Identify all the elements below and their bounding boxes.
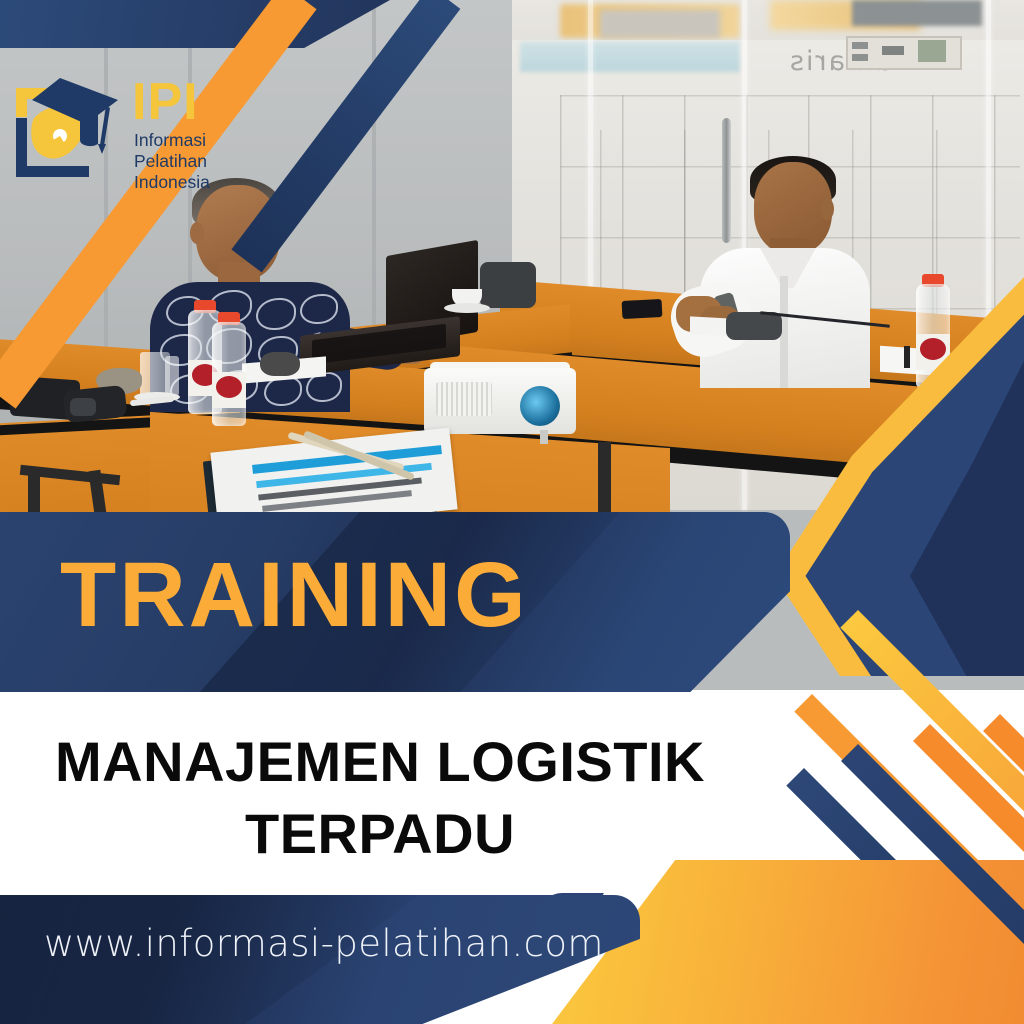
logo-wordmark: IPI xyxy=(132,76,199,128)
panel-switch xyxy=(852,54,868,61)
door-handle xyxy=(722,118,731,243)
bottle-logo xyxy=(216,376,242,398)
projector-foot xyxy=(540,430,548,444)
logo-tagline-line2: Pelatihan xyxy=(134,151,210,172)
website-url[interactable]: www.informasi-pelatihan.com xyxy=(44,922,604,965)
glass-reflection xyxy=(520,42,740,72)
panel-switch xyxy=(852,42,868,49)
drinking-glass xyxy=(165,356,179,396)
poster-canvas: amaris xyxy=(0,0,1024,1024)
projector-vent xyxy=(436,382,492,416)
course-title-line2: TERPADU xyxy=(0,798,760,870)
chevron-decoration xyxy=(742,276,1024,676)
training-label: TRAINING xyxy=(60,540,680,650)
logo-tagline-line3: Indonesia xyxy=(134,172,210,193)
logo-tagline-line1: Informasi xyxy=(134,130,210,151)
panel-switch xyxy=(882,46,904,55)
saucer xyxy=(444,303,490,313)
person-left-ear xyxy=(190,222,204,244)
course-title-line1: MANAJEMEN LOGISTIK xyxy=(0,726,760,798)
mobile-phone xyxy=(622,299,663,319)
panel-display xyxy=(918,40,946,62)
logo-tagline: Informasi Pelatihan Indonesia xyxy=(134,130,210,193)
person-right-ear xyxy=(820,198,834,220)
ceiling-recess xyxy=(600,10,720,38)
projector-lens xyxy=(520,386,560,426)
graduation-cap-pen-nib-icon xyxy=(10,74,130,194)
wall-monitor xyxy=(852,0,982,26)
course-title: MANAJEMEN LOGISTIK TERPADU xyxy=(0,726,760,870)
computer-mouse xyxy=(260,352,300,376)
laptop-bag xyxy=(480,262,536,308)
ipi-logo[interactable]: IPI Informasi Pelatihan Indonesia xyxy=(10,74,240,200)
key-fob xyxy=(70,398,96,416)
